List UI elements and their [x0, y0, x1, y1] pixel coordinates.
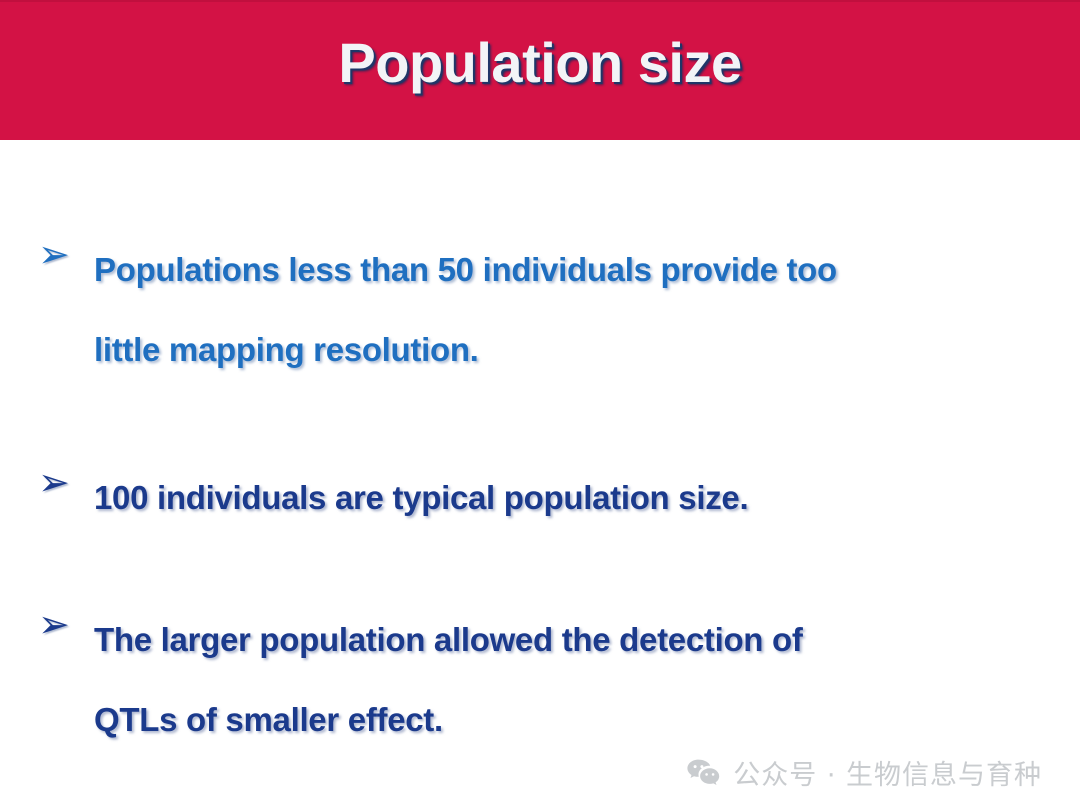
- arrowhead-bullet-icon: ➢: [38, 230, 94, 276]
- bullet-item-3: ➢ The larger population allowed the dete…: [38, 600, 1038, 760]
- bullet-item-3-text: The larger population allowed the detect…: [94, 600, 1038, 760]
- watermark: 公众号 · 生物信息与育种: [687, 753, 1042, 792]
- wechat-logo-icon: [687, 759, 721, 787]
- slide-body: ➢ Populations less than 50 individuals p…: [0, 140, 1080, 810]
- bullet-item-1: ➢ Populations less than 50 individuals p…: [38, 230, 1038, 390]
- arrowhead-bullet-icon: ➢: [38, 600, 94, 646]
- title-banner: Population size: [0, 0, 1080, 140]
- bullet-item-2: ➢ 100 individuals are typical population…: [38, 458, 1038, 538]
- bullet-item-2-text: 100 individuals are typical population s…: [94, 458, 1038, 538]
- page-title: Population size: [0, 30, 1080, 95]
- watermark-text: 公众号 · 生物信息与育种: [733, 753, 1042, 792]
- bullet-item-1-text: Populations less than 50 individuals pro…: [94, 230, 1038, 390]
- slide-canvas: Population size ➢ Populations less than …: [0, 0, 1080, 810]
- arrowhead-bullet-icon: ➢: [38, 458, 94, 504]
